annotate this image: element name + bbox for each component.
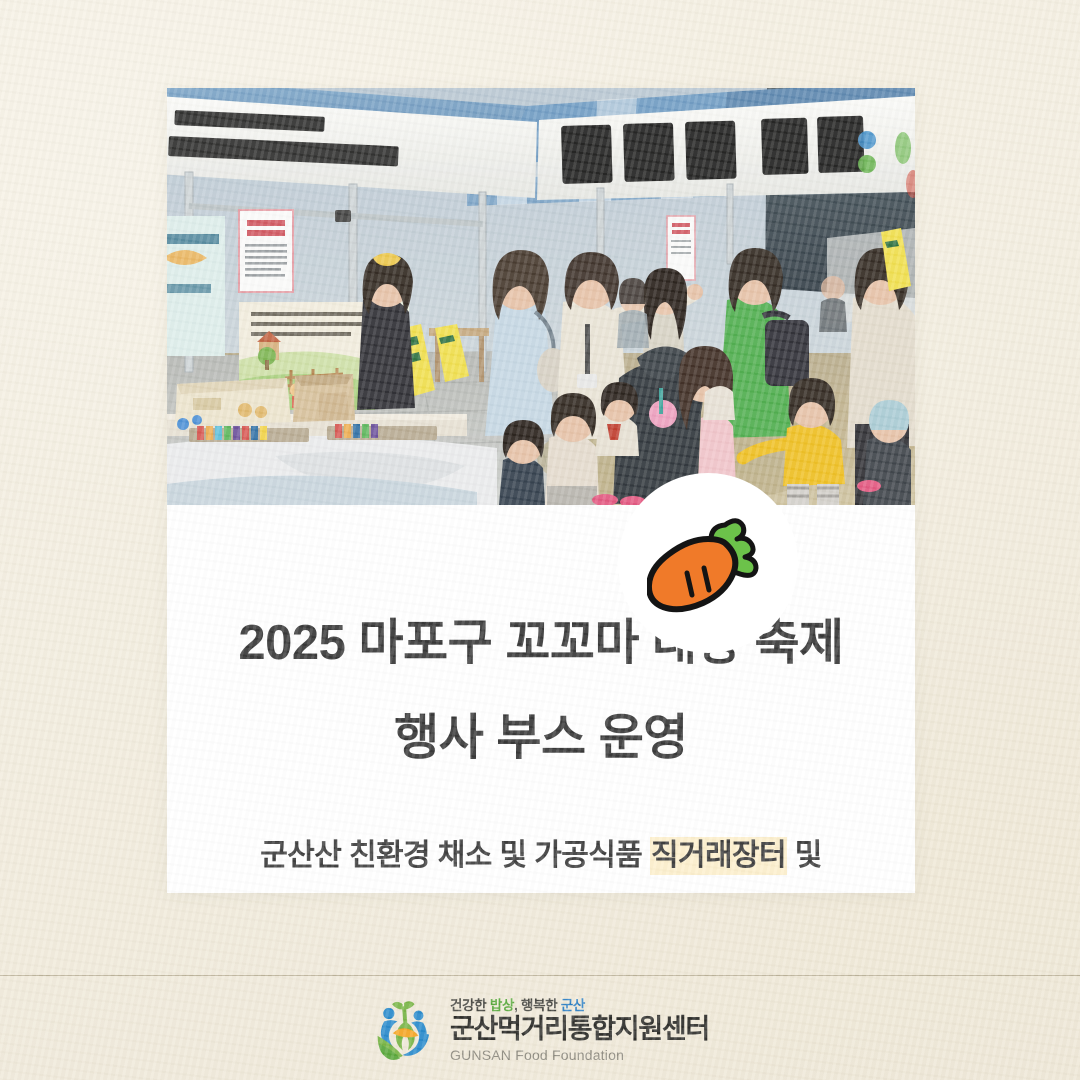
content-card: 2025 마포구 꼬꼬마 대장 축제 행사 부스 운영 군산산 친환경 채소 및… bbox=[167, 88, 915, 893]
poster-background: 2025 마포구 꼬꼬마 대장 축제 행사 부스 운영 군산산 친환경 채소 및… bbox=[0, 0, 1080, 1080]
footer-logo-lockup: 건강한 밥상, 행복한 군산 군산먹거리통합지원센터 GUNSAN Food F… bbox=[371, 994, 709, 1063]
gunsan-food-foundation-logo-icon bbox=[371, 995, 437, 1061]
footer-text-block: 건강한 밥상, 행복한 군산 군산먹거리통합지원센터 GUNSAN Food F… bbox=[450, 994, 709, 1063]
footer-tagline-part3: , 행복한 bbox=[514, 998, 561, 1013]
description-line-1-highlight: 직거래장터 bbox=[650, 837, 787, 875]
page-title-line-2: 행사 부스 운영 bbox=[167, 714, 915, 763]
footer-organization-name: 군산먹거리통합지원센터 bbox=[450, 1016, 709, 1043]
footer: 건강한 밥상, 행복한 군산 군산먹거리통합지원센터 GUNSAN Food F… bbox=[0, 976, 1080, 1080]
description-line-1-post: 및 bbox=[787, 839, 822, 872]
footer-tagline-part2: 밥상 bbox=[490, 998, 514, 1013]
footer-tagline-part4: 군산 bbox=[561, 998, 585, 1013]
carrot-icon bbox=[647, 511, 769, 615]
event-photo bbox=[167, 88, 915, 505]
page-title-line-1: 2025 마포구 꼬꼬마 대장 축제 bbox=[167, 619, 915, 668]
text-block: 2025 마포구 꼬꼬마 대장 축제 행사 부스 운영 군산산 친환경 채소 및… bbox=[167, 505, 915, 893]
footer-organization-name-en: GUNSAN Food Foundation bbox=[450, 1047, 709, 1063]
description-line-1: 군산산 친환경 채소 및 가공식품 직거래장터 및 bbox=[167, 841, 915, 871]
footer-tagline: 건강한 밥상, 행복한 군산 bbox=[450, 994, 709, 1014]
description-line-1-pre: 군산산 친환경 채소 및 가공식품 bbox=[260, 839, 650, 872]
footer-tagline-part1: 건강한 bbox=[450, 998, 490, 1013]
carrot-badge bbox=[618, 473, 798, 653]
